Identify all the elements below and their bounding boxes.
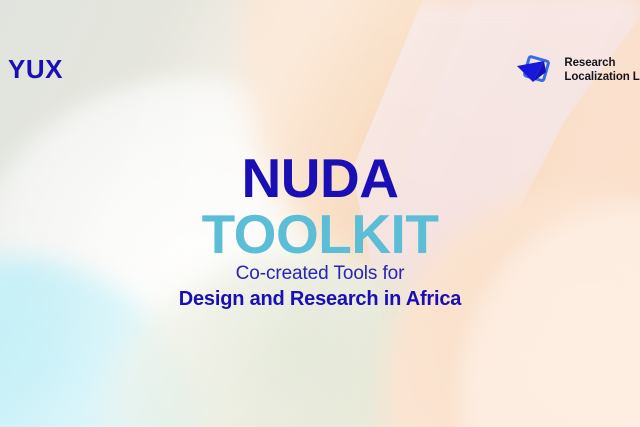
research-localization-lab-wordmark: Research Localization La	[564, 56, 640, 84]
title-line-nuda: NUDA	[0, 152, 640, 206]
rl-line-1: Research	[564, 57, 615, 69]
subtitle-line-2: Design and Research in Africa	[0, 286, 640, 312]
title-line-toolkit: TOOLKIT	[0, 206, 640, 262]
presentation-cover-slide: YUX Research Localization La NUDA TOOLKI…	[0, 0, 640, 427]
yux-logo: YUX	[0, 56, 63, 82]
overlapping-squares-mark-icon	[513, 52, 555, 88]
slide-title-block: NUDA TOOLKIT	[0, 152, 640, 262]
yux-chevron-mark-icon	[0, 56, 6, 82]
rl-line-2: Localization La	[564, 71, 640, 83]
yux-wordmark: YUX	[8, 56, 63, 82]
subtitle-line-1: Co-created Tools for	[0, 262, 640, 286]
research-localization-lab-logo: Research Localization La	[513, 52, 640, 88]
slide-subtitle-block: Co-created Tools for Design and Research…	[0, 262, 640, 312]
